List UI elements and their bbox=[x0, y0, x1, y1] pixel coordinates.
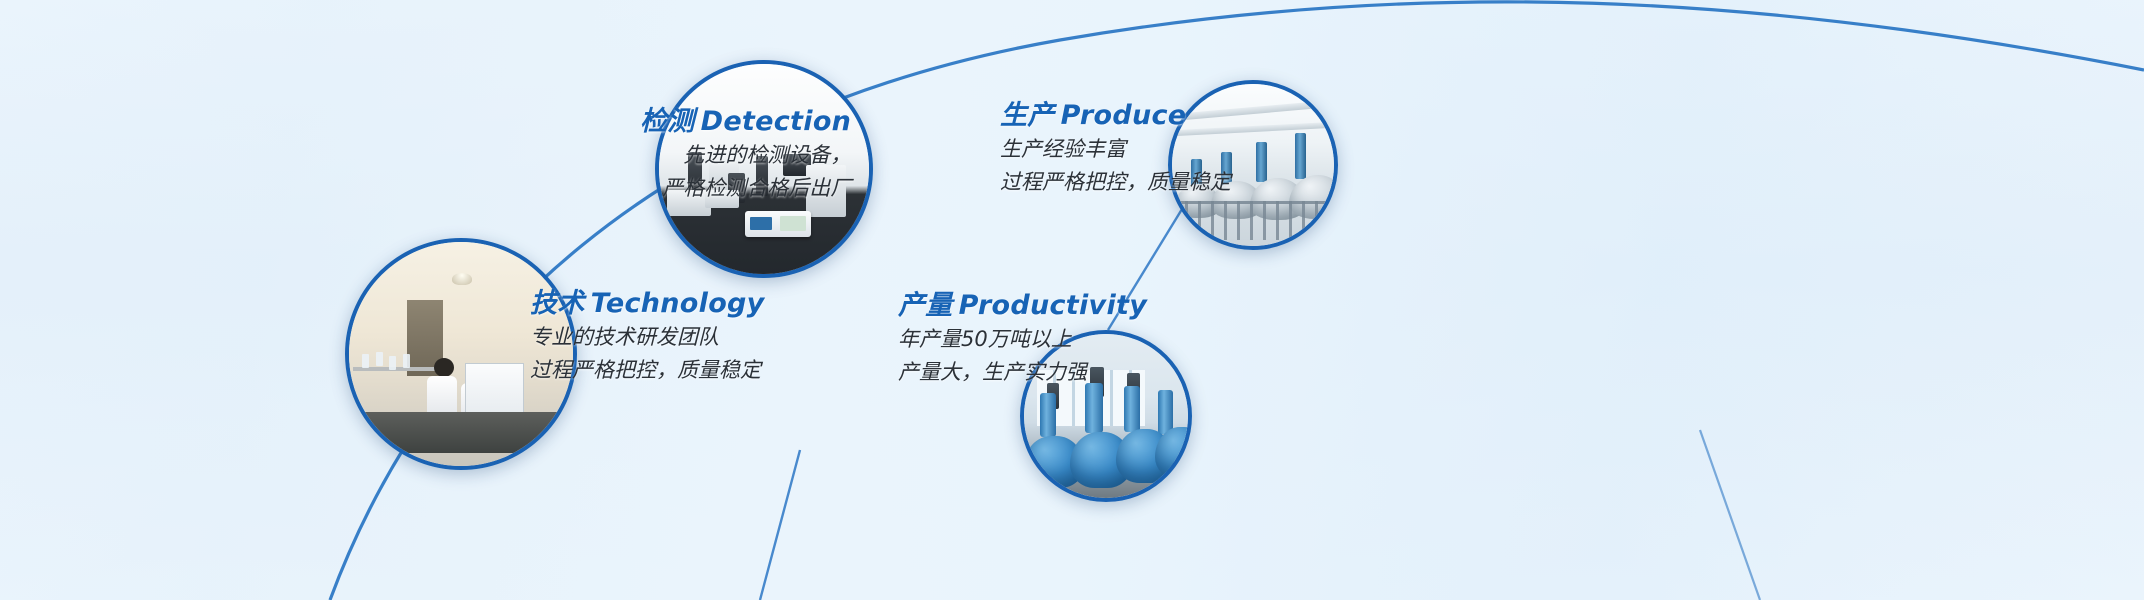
walkway-railing bbox=[1172, 201, 1334, 240]
heading-cn: 生产 bbox=[1000, 100, 1055, 131]
precision-balance bbox=[745, 211, 811, 237]
lab-bench bbox=[349, 412, 573, 452]
agitator-motor bbox=[1295, 133, 1306, 179]
feature-text-detection: 检测Detection 先进的检测设备， 严格检测合格后出厂 bbox=[640, 106, 851, 204]
reactor-column bbox=[1158, 390, 1173, 434]
company-strength-banner: 检测Detection 先进的检测设备， 严格检测合格后出厂 生产Produce… bbox=[0, 0, 2144, 600]
heading-en: Technology bbox=[591, 288, 765, 319]
ceiling-lamp bbox=[452, 273, 472, 285]
feature-text-produce: 生产Produce 生产经验丰富 过程严格把控，质量稳定 bbox=[1000, 100, 1231, 198]
heading-cn: 检测 bbox=[640, 106, 695, 137]
glassware bbox=[376, 352, 383, 366]
heading-en: Produce bbox=[1061, 100, 1187, 131]
heading-en: Detection bbox=[701, 106, 852, 137]
heading-en: Productivity bbox=[959, 290, 1148, 321]
feature-heading-technology: 技术Technology bbox=[530, 288, 765, 320]
reagent-shelf bbox=[353, 367, 443, 371]
feature-heading-produce: 生产Produce bbox=[1000, 100, 1231, 132]
feature-line: 过程严格把控，质量稳定 bbox=[1000, 168, 1231, 198]
technician-head bbox=[434, 358, 454, 377]
feature-line: 专业的技术研发团队 bbox=[530, 323, 765, 353]
reactor-column bbox=[1040, 393, 1056, 437]
feature-heading-productivity: 产量Productivity bbox=[898, 290, 1147, 322]
feature-line: 先进的检测设备， bbox=[640, 141, 851, 171]
heading-cn: 技术 bbox=[530, 288, 585, 319]
glassware bbox=[403, 354, 410, 368]
feature-text-technology: 技术Technology 专业的技术研发团队 过程严格把控，质量稳定 bbox=[530, 288, 765, 386]
agitator-motor bbox=[1256, 142, 1267, 182]
feature-line: 年产量50万吨以上 bbox=[898, 325, 1147, 355]
heading-cn: 产量 bbox=[898, 290, 953, 321]
feature-heading-detection: 检测Detection bbox=[640, 106, 851, 138]
feature-line: 生产经验丰富 bbox=[1000, 135, 1231, 165]
feature-text-productivity: 产量Productivity 年产量50万吨以上 产量大，生产实力强 bbox=[898, 290, 1147, 388]
feature-line: 严格检测合格后出厂 bbox=[640, 174, 851, 204]
feature-line: 过程严格把控，质量稳定 bbox=[530, 356, 765, 386]
glassware bbox=[362, 354, 369, 368]
reactor-column bbox=[1124, 386, 1140, 432]
reactor-column bbox=[1085, 383, 1103, 433]
feature-line: 产量大，生产实力强 bbox=[898, 358, 1147, 388]
glassware bbox=[389, 356, 396, 370]
